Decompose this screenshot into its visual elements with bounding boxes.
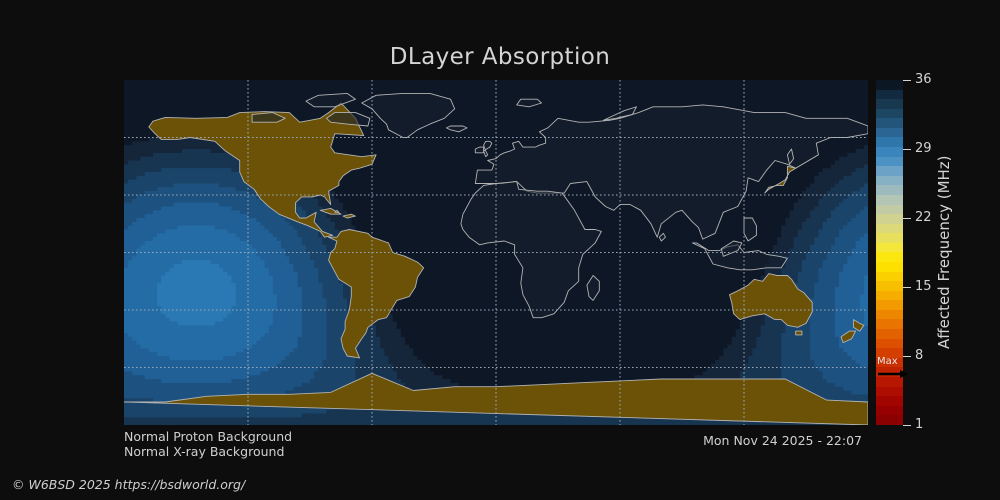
status-proton: Normal Proton Background <box>124 429 292 444</box>
max-arrow-icon <box>878 370 908 378</box>
max-marker-label: Max <box>877 356 898 367</box>
colorbar-segment <box>876 128 903 138</box>
status-xray: Normal X-ray Background <box>124 444 292 459</box>
colorbar-segment <box>876 387 903 397</box>
colorbar-segment <box>876 157 903 167</box>
landmass-ireland <box>475 147 483 153</box>
colorbar-segment <box>876 80 903 90</box>
colorbar-segment <box>876 252 903 262</box>
colorbar-segment <box>876 243 903 253</box>
colorbar-segment <box>876 233 903 243</box>
colorbar-tick <box>903 356 911 357</box>
colorbar-segment <box>876 99 903 109</box>
colorbar-segment <box>876 310 903 320</box>
colorbar-segment <box>876 329 903 339</box>
colorbar-segment <box>876 147 903 157</box>
colorbar-segment <box>876 262 903 272</box>
colorbar-tick <box>903 287 911 288</box>
colorbar-segment <box>876 281 903 291</box>
colorbar-tick <box>903 80 911 81</box>
status-block: Normal Proton Background Normal X-ray Ba… <box>124 429 292 459</box>
colorbar-segment <box>876 185 903 195</box>
colorbar-tick <box>903 425 911 426</box>
colorbar-segment <box>876 291 903 301</box>
colorbar-segment <box>876 339 903 349</box>
colorbar-segment <box>876 415 903 425</box>
colorbar-tick <box>903 218 911 219</box>
colorbar-segment <box>876 176 903 186</box>
colorbar-segment <box>876 205 903 215</box>
map-canvas <box>124 80 868 425</box>
colorbar-segment <box>876 195 903 205</box>
world-absorption-map[interactable] <box>124 80 868 425</box>
colorbar-segment <box>876 109 903 119</box>
colorbar-max-marker: Max <box>876 358 916 380</box>
page-title: DLayer Absorption <box>0 44 1000 70</box>
colorbar-segment <box>876 166 903 176</box>
colorbar-segment <box>876 319 903 329</box>
colorbar-axis-label: Affected Frequency (MHz) <box>930 80 958 425</box>
colorbar-segment <box>876 300 903 310</box>
colorbar-segment <box>876 224 903 234</box>
landmass-tasmania <box>796 331 802 335</box>
colorbar-tick-label: 8 <box>915 348 923 363</box>
colorbar-segment <box>876 272 903 282</box>
colorbar-segment <box>876 118 903 128</box>
copyright-notice: © W6BSD 2025 https://bsdworld.org/ <box>12 477 245 492</box>
colorbar-segment <box>876 406 903 416</box>
timestamp: Mon Nov 24 2025 - 22:07 <box>600 433 862 448</box>
dlayer-absorption-page: DLayer Absorption 1815222936 Max Affecte… <box>0 0 1000 500</box>
colorbar-tick <box>903 149 911 150</box>
colorbar-segment <box>876 137 903 147</box>
colorbar-segment <box>876 396 903 406</box>
colorbar-segment <box>876 214 903 224</box>
colorbar-segment <box>876 90 903 100</box>
colorbar-tick-label: 1 <box>915 417 923 432</box>
